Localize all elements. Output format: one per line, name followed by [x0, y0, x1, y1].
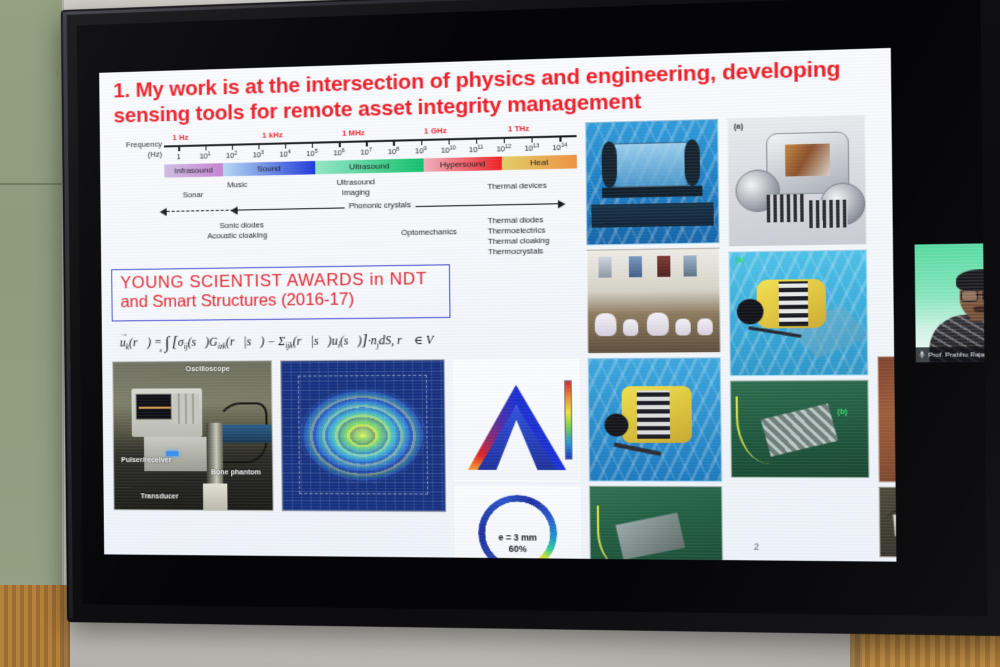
- wall-mounted-display[interactable]: 1. My work is at the intersection of phy…: [59, 0, 1000, 648]
- axis-tick-label: 1010: [441, 145, 456, 155]
- awards-line-1: YOUNG SCIENTIST AWARDS in NDT: [120, 270, 440, 294]
- band-sound: Sound: [223, 161, 315, 176]
- screen-scanlines: [915, 242, 988, 362]
- specimen-block: [629, 256, 642, 277]
- tech-label-acoustic-cloaking: Acoustic cloaking: [207, 230, 267, 241]
- axis-tick-label: 103: [253, 150, 264, 160]
- band-hypersound: Hypersound: [423, 157, 501, 172]
- eq-sigma-sub: ij: [184, 342, 188, 351]
- eq-ui-sub: i: [338, 341, 340, 350]
- crawler-track-right: [684, 139, 700, 186]
- photo-label-oscilloscope: Oscilloscope: [185, 366, 229, 373]
- app-label-ultrasound-imaging: Ultrasoundimaging: [325, 177, 388, 198]
- fem-domain-outline: [298, 375, 428, 495]
- oscilloscope-knobs: [173, 393, 200, 423]
- axis-tick: [339, 141, 340, 147]
- photo-label-pulser-receiver: Pulser/receiver: [121, 457, 171, 464]
- marked-frequency-1-mhz: 1 MHz: [342, 128, 365, 138]
- photo-label-bone-phantom: Bone phantom: [211, 469, 261, 476]
- rov-thruster: [737, 299, 764, 325]
- panel-tag-a: (a): [735, 257, 745, 265]
- crawler-chassis: [602, 186, 703, 199]
- axis-tick: [205, 144, 206, 150]
- eq-sigma-cap-sub: ijk: [285, 341, 293, 350]
- awards-line-2: and Smart Structures (2016-17): [120, 289, 440, 312]
- axis-tick: [532, 136, 533, 142]
- crawler-track-left: [602, 141, 618, 187]
- marked-frequency-1-thz: 1 THz: [508, 124, 530, 134]
- axis-tick: [393, 140, 394, 146]
- axis-tick: [560, 135, 561, 141]
- app-label-music: Music: [227, 180, 247, 190]
- rov-instrument-stack: [779, 281, 809, 326]
- ribbed-roller: [767, 194, 805, 222]
- photo-yellow-rov[interactable]: (a): [728, 249, 868, 376]
- awards-callout-box: YOUNG SCIENTIST AWARDS in NDT and Smart …: [111, 264, 450, 321]
- axis-tick-label: 1011: [469, 145, 484, 155]
- axis-tick: [258, 143, 259, 149]
- coil-winding: [887, 503, 897, 536]
- band-heat: Heat: [502, 155, 577, 170]
- specimen-block: [598, 257, 611, 278]
- frequency-spectrum-chart: Frequency (Hz) 1101102103104105106107108…: [106, 122, 587, 257]
- photo-plate-specimen[interactable]: [877, 355, 896, 483]
- arch-mode-shape: [467, 385, 566, 471]
- photo-underwater-crawler[interactable]: [585, 119, 719, 246]
- microphone-icon: [919, 351, 925, 360]
- eq-green: G: [209, 337, 218, 349]
- rov-instrument-stack: [637, 390, 670, 438]
- axis-tick-label: 108: [388, 147, 400, 157]
- specimen-bed: [623, 319, 638, 336]
- axis-tick-label: 106: [333, 148, 345, 158]
- photo-rov-manipulator[interactable]: [588, 357, 723, 482]
- app-label-sonar: Sonar: [183, 190, 204, 200]
- band-infrasound: Infrasound: [164, 163, 223, 177]
- axis-tick-label: 104: [279, 149, 290, 159]
- arch-outer-band: [467, 385, 566, 471]
- pool-floor: [591, 202, 713, 227]
- participant-name-bar: Prof. Prabhu Rajagopal (IITM): [916, 346, 988, 362]
- photo-specimen-beds[interactable]: [586, 248, 720, 355]
- eq-green-sub: izk: [218, 342, 226, 351]
- photo-bar-specimen[interactable]: [879, 487, 897, 559]
- axis-tick-label: 107: [360, 147, 372, 157]
- marked-frequency-1-hz: 1 Hz: [173, 133, 189, 142]
- axis-tick: [179, 145, 180, 151]
- internal-electronics: [785, 144, 830, 177]
- photo-seabed-frame[interactable]: (b): [730, 380, 870, 478]
- donut-label-percent: 60%: [456, 543, 580, 554]
- reciprocity-equation: uk(r⃗) = ∫s[σij(s⃗)Gizk(r⃗|s⃗) − Σijk(r⃗…: [120, 328, 459, 352]
- colorbar: [564, 380, 572, 459]
- presentation-slide[interactable]: 1. My work is at the intersection of phy…: [99, 48, 896, 562]
- slide-page-number: 2: [754, 541, 759, 552]
- status-led: [166, 451, 178, 456]
- wood-skirting-left: [0, 585, 70, 667]
- axis-tick-label: 102: [226, 151, 237, 161]
- eq-member: ∈ V: [414, 335, 434, 348]
- axis-tick: [448, 138, 449, 144]
- photo-label-transducer: Transducer: [141, 493, 179, 500]
- axis-tick-label: 1014: [552, 143, 567, 153]
- specimen-block: [683, 255, 696, 276]
- axis-tick-label: 109: [415, 146, 427, 156]
- app-label-thermal-devices: Thermal devices: [487, 181, 547, 192]
- photo-crawler-assembly[interactable]: (a): [727, 115, 867, 247]
- marked-frequency-1-khz: 1 kHz: [262, 130, 282, 140]
- tech-label-thermoelectrics: Thermoelectrics: [488, 225, 546, 236]
- band-ultrasound: Ultrasound: [315, 158, 424, 174]
- eq-u-sub: k: [126, 343, 129, 352]
- specimen-bed: [595, 313, 617, 336]
- photo-lab-bench[interactable]: Oscilloscope Pulser/receiver Transducer …: [112, 361, 273, 512]
- wall-panel-green-left: [0, 0, 62, 600]
- specimen-bed: [675, 319, 691, 336]
- axis-tick: [285, 142, 286, 148]
- oscilloscope-crt: [135, 394, 171, 420]
- marked-frequency-1-ghz: 1 GHz: [424, 126, 447, 136]
- tech-label-optomechanics: Optomechanics: [401, 227, 457, 238]
- participant-video-tile[interactable]: Prof. Prabhu Rajagopal (IITM): [915, 242, 988, 362]
- specimen-bed: [697, 318, 713, 335]
- oscilloscope-body: [131, 388, 202, 437]
- panel-tag-b: (b): [837, 409, 847, 416]
- axis-tick-label: 1: [177, 152, 181, 161]
- specimen-block: [657, 256, 670, 277]
- axis-tick-label: 1013: [524, 143, 539, 153]
- eq-minus: −: [267, 336, 275, 348]
- integral-subscript: s: [159, 347, 162, 354]
- waveform-trace: [139, 407, 171, 409]
- photo-pipe-cross-section[interactable]: e = 3 mm 60%: [454, 485, 581, 561]
- specimen-bed: [647, 313, 669, 336]
- donut-label-thickness: e = 3 mm: [456, 532, 580, 543]
- crawler-hull: [610, 142, 691, 188]
- panel-tag-a: (a): [734, 123, 744, 131]
- bone-phantom-body: [203, 483, 228, 511]
- axis-tick-label: 105: [306, 149, 318, 159]
- axis-tick: [231, 144, 232, 150]
- photo-fem-simulation[interactable]: [280, 359, 446, 512]
- lecture-room-scene: 1. My work is at the intersection of phy…: [0, 0, 1000, 667]
- eq-ds: dS,: [379, 335, 394, 347]
- display-wrapper: 1. My work is at the intersection of phy…: [62, 8, 952, 638]
- photo-submerged-structure[interactable]: [589, 486, 723, 562]
- pulser-receiver-body: [144, 437, 207, 471]
- rov-thruster: [604, 414, 628, 437]
- axis-tick: [312, 142, 313, 148]
- tech-label-thermocrystals: Thermocrystals: [488, 246, 544, 257]
- participant-name-label: Prof. Prabhu Rajagopal (IITM): [928, 350, 987, 358]
- photo-dispersion-plot[interactable]: [453, 358, 580, 481]
- axis-tick: [421, 139, 422, 145]
- axis-tick: [476, 138, 477, 144]
- chart-axis-line: [164, 135, 577, 147]
- display-screen[interactable]: 1. My work is at the intersection of phy…: [77, 0, 988, 616]
- axis-tick-label: 1012: [496, 144, 511, 154]
- phononic-crystals-label: Phononic crystals: [345, 200, 416, 211]
- ribbed-roller: [809, 200, 847, 228]
- water-tank: [221, 425, 274, 443]
- tech-label-thermal-cloaking: Thermal cloaking: [488, 236, 550, 247]
- axis-tick: [504, 137, 505, 143]
- integral-sign: ∫: [165, 333, 170, 352]
- tech-label-sonic-diodes: Sonic diodes: [219, 220, 263, 231]
- axis-tick: [366, 140, 367, 146]
- axis-tick-label: 101: [199, 151, 210, 161]
- chart-ylabel: Frequency (Hz): [106, 139, 162, 161]
- tech-label-thermal-diodes: Thermal diodes: [488, 215, 544, 226]
- arrow-left-dashed: [167, 210, 234, 212]
